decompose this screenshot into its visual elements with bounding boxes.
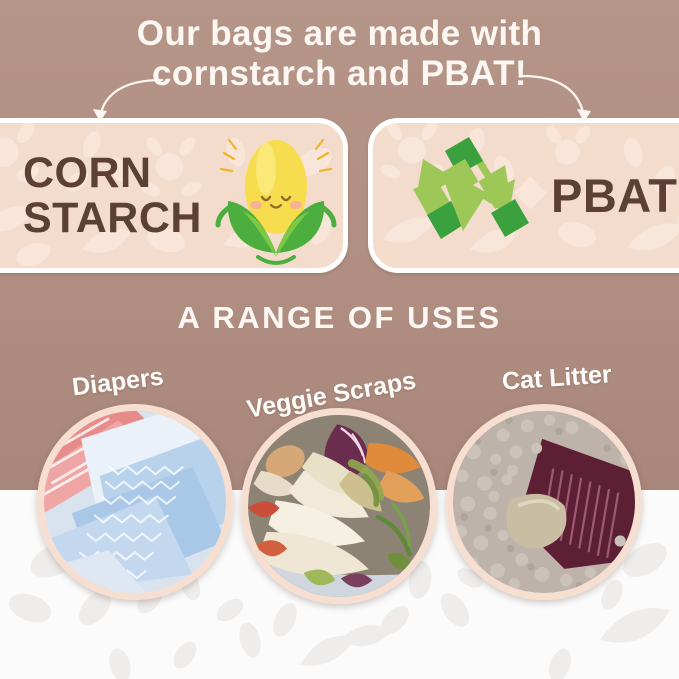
corn-mascot-icon <box>212 125 340 267</box>
cornstarch-label-line-2: STARCH <box>23 194 202 242</box>
use-circle-cat-litter[interactable] <box>446 404 642 600</box>
cat-litter-circle <box>446 404 642 600</box>
header-line-1: Our bags are made with <box>0 14 679 54</box>
ingredient-cards: CORN STARCH <box>0 118 679 276</box>
diapers-circle <box>37 404 233 600</box>
pbat-card[interactable]: PBAT <box>368 118 679 273</box>
diapers-photo <box>44 411 226 593</box>
uses-section-title: A RANGE OF USES <box>0 300 679 336</box>
curved-arrow-left-icon <box>88 76 166 128</box>
cat-litter-photo <box>453 411 635 593</box>
pbat-label: PBAT <box>551 168 677 223</box>
veggie-scraps-circle <box>241 408 437 604</box>
use-circle-diapers[interactable] <box>37 404 233 600</box>
cornstarch-card[interactable]: CORN STARCH <box>0 118 348 273</box>
cornstarch-label: CORN STARCH <box>23 151 202 241</box>
curved-arrow-right-icon <box>518 72 596 128</box>
infographic-stage: Our bags are made with cornstarch and PB… <box>0 0 679 679</box>
cornstarch-label-line-1: CORN <box>23 149 152 197</box>
veggie-scraps-photo <box>248 415 430 597</box>
use-circle-veggie-scraps[interactable] <box>241 408 437 604</box>
recycle-symbol-icon <box>411 133 539 259</box>
